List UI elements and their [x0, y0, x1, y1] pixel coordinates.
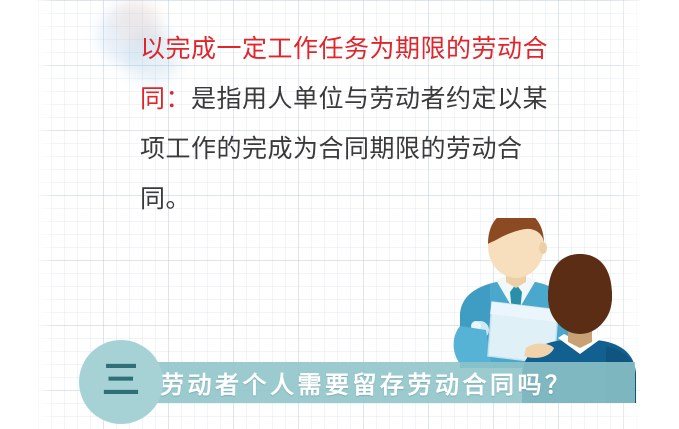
section-number-label: 三 — [102, 362, 140, 400]
definition-paragraph: 以完成一定工作任务为期限的劳动合同：是指用人单位与劳动者约定以某项工作的完成为合… — [140, 24, 570, 224]
definition-body: 是指用人单位与劳动者约定以某项工作的完成为合同期限的劳动合同。 — [140, 85, 548, 213]
section-heading-text: 劳动者个人需要留存劳动合同吗？ — [148, 362, 635, 403]
grid-fade-left — [28, 0, 54, 429]
back-figure-hair — [548, 254, 612, 330]
front-figure-ear — [539, 242, 547, 254]
infographic-page: 以完成一定工作任务为期限的劳动合同：是指用人单位与劳动者约定以某项工作的完成为合… — [0, 0, 679, 429]
section-number-badge: 三 — [79, 340, 163, 424]
section-heading-bar: 劳动者个人需要留存劳动合同吗？ — [148, 362, 635, 403]
